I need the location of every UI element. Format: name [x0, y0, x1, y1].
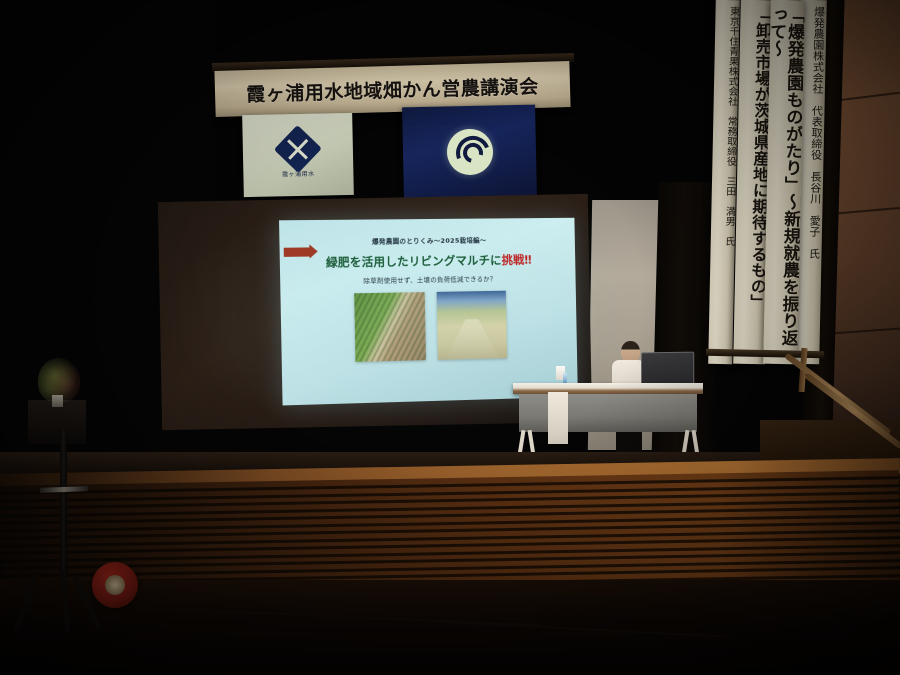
wall-seam — [830, 207, 900, 215]
slide-photo-left — [354, 292, 426, 362]
podium-table-panel — [519, 394, 697, 432]
slide-title-main: 緑肥を活用したリビングマルチに — [326, 253, 502, 269]
conference-hall-photo: 霞ヶ浦用水地域畑かん営農講演会 霞ヶ浦用水 東京千住青果株式会社 常務取締役 三… — [0, 0, 900, 675]
kasumigaura-water-flag: 霞ヶ浦用水 — [242, 113, 354, 197]
podium-table-top — [513, 383, 703, 394]
spiral-emblem-icon — [446, 129, 493, 176]
slide-subtitle: 除草剤使用せず、土壌の負荷低減できるか？ — [363, 273, 496, 285]
slide-photo-group — [354, 291, 507, 362]
tripod-pole — [60, 430, 67, 588]
diamond-crest-icon — [274, 125, 322, 173]
slide-title: 緑肥を活用したリビングマルチに挑戦‼ — [326, 252, 532, 271]
flower-vase — [52, 395, 63, 407]
projection-screen: 爆発農園のとりくみ～2025栽培編～ 緑肥を活用したリビングマルチに挑戦‼ 除草… — [279, 218, 578, 406]
prefecture-flag — [402, 105, 537, 200]
arrow-icon — [284, 247, 311, 256]
wall-seam — [830, 328, 900, 335]
slide-photo-right — [437, 291, 507, 360]
slide-eyebrow-text: 爆発農園のとりくみ～2025栽培編～ — [372, 234, 487, 245]
cable-reel — [92, 562, 138, 608]
presentation-slide: 爆発農園のとりくみ～2025栽培編～ 緑肥を活用したリビングマルチに挑戦‼ 除草… — [279, 218, 578, 406]
slide-title-accent: 挑戦‼ — [501, 253, 531, 267]
event-title-text: 霞ヶ浦用水地域畑かん営農講演会 — [246, 71, 539, 106]
table-cloth — [548, 392, 568, 444]
